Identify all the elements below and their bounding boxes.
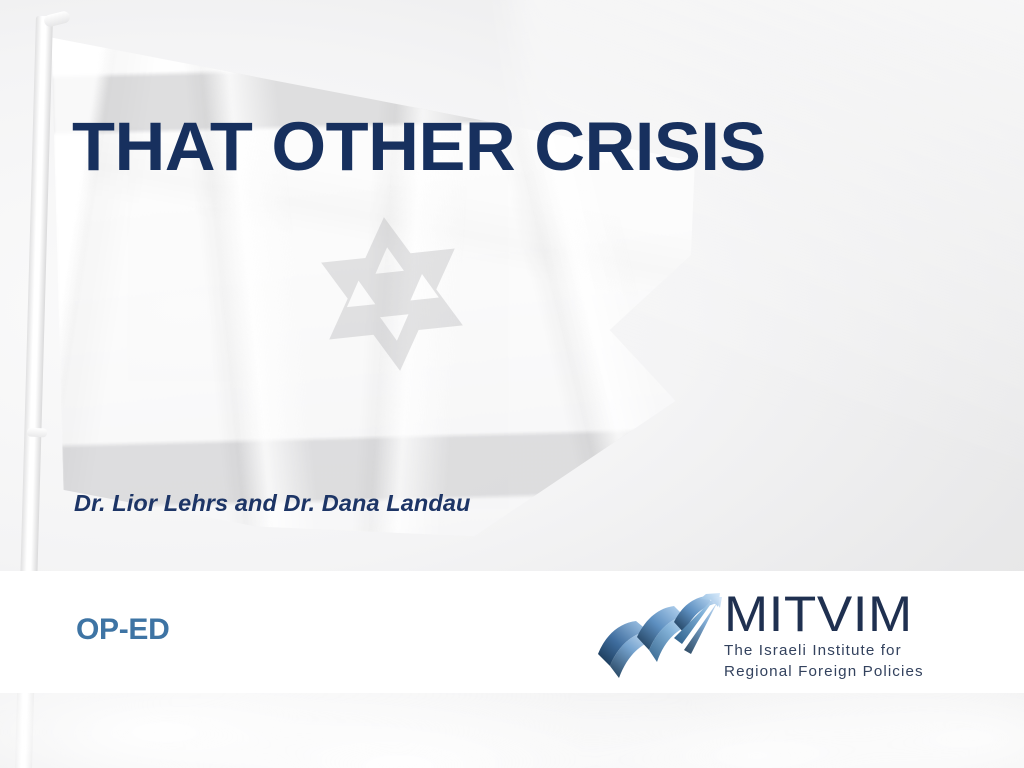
mitvim-logo-text: MITVIM The Israeli Institute for Regiona…	[724, 588, 954, 681]
author-byline: Dr. Lior Lehrs and Dr. Dana Landau	[74, 490, 470, 517]
mitvim-wordmark: MITVIM	[724, 588, 968, 640]
star-of-david-icon	[300, 202, 485, 387]
presentation-slide: THAT OTHER CRISIS Dr. Lior Lehrs and Dr.…	[0, 0, 1024, 768]
flag-pole-clip	[27, 427, 47, 437]
mitvim-tagline-line-1: The Israeli Institute for	[724, 642, 954, 661]
mitvim-logo: MITVIM The Israeli Institute for Regiona…	[596, 588, 956, 688]
mitvim-logo-mark-icon	[596, 590, 724, 686]
document-type-label: OP-ED	[76, 613, 170, 647]
mitvim-tagline-line-2: Regional Foreign Policies	[724, 663, 954, 682]
page-title: THAT OTHER CRISIS	[72, 112, 766, 181]
